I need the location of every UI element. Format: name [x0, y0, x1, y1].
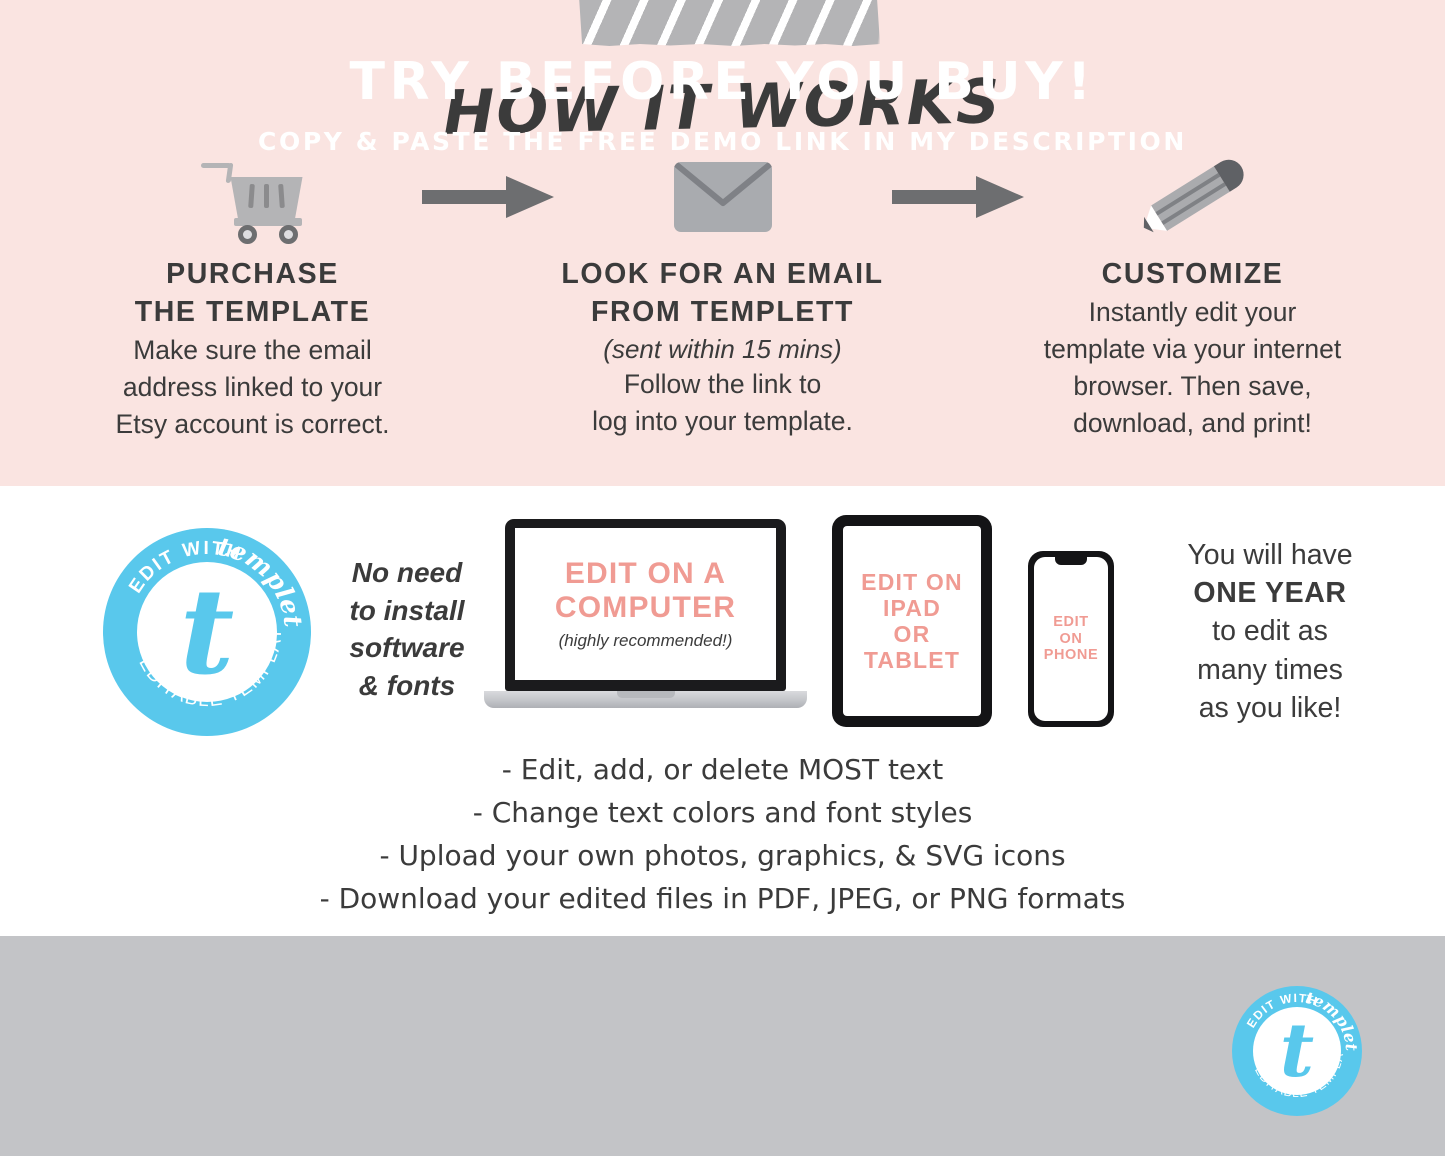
step-purchase-heading: PURCHASE THE TEMPLATE	[88, 256, 418, 332]
device-tablet: EDIT ON IPAD OR TABLET	[832, 515, 992, 727]
tablet-screen: EDIT ON IPAD OR TABLET	[843, 526, 981, 716]
list-item: - Edit, add, or delete MOST text	[0, 748, 1445, 791]
feature-bullet-list: - Edit, add, or delete MOST text - Chang…	[0, 748, 1445, 920]
templett-badge-footer-text: EDIT WITH templett EDITABLE TEMPLATE	[1232, 986, 1362, 1116]
device-laptop: EDIT ON A COMPUTER (highly recommended!)	[484, 519, 814, 734]
list-item: - Change text colors and font styles	[0, 791, 1445, 834]
laptop-screen-subtext: (highly recommended!)	[559, 631, 733, 651]
tablet-screen-heading: EDIT ON IPAD OR TABLET	[861, 569, 963, 673]
list-item: - Upload your own photos, graphics, & SV…	[0, 834, 1445, 877]
step-email-body: Follow the link to log into your templat…	[558, 366, 888, 440]
envelope-icon	[674, 162, 772, 232]
one-year-line-4: many times	[1120, 651, 1420, 689]
one-year-line-1: You will have	[1120, 536, 1420, 574]
step-customize-body: Instantly edit your template via your in…	[1028, 294, 1358, 442]
arrow-right-icon	[422, 173, 554, 221]
step-email: LOOK FOR AN EMAIL FROM TEMPLETT (sent wi…	[558, 138, 888, 441]
laptop-screen: EDIT ON A COMPUTER (highly recommended!)	[515, 528, 776, 680]
step-purchase: PURCHASE THE TEMPLATE Make sure the emai…	[88, 138, 418, 443]
templett-badge-footer: t EDIT WITH templett EDITABLE TEMPLATE	[1232, 986, 1362, 1116]
laptop-screen-heading: EDIT ON A COMPUTER	[555, 557, 736, 625]
laptop-trackpad-notch	[617, 691, 675, 698]
step-customize: CUSTOMIZE Instantly edit your template v…	[1028, 138, 1358, 442]
one-year-emphasis: ONE YEAR	[1193, 577, 1346, 609]
step-email-heading: LOOK FOR AN EMAIL FROM TEMPLETT	[558, 256, 888, 332]
footer-title: TRY BEFORE YOU BUY!	[0, 52, 1445, 112]
phone-screen: EDIT ON PHONE	[1034, 557, 1108, 721]
templett-badge: t EDIT WITH templett EDITABLE TEMPLATE	[103, 528, 311, 736]
one-year-line-5: as you like!	[1120, 689, 1420, 727]
one-year-note: You will have ONE YEAR to edit as many t…	[1120, 536, 1420, 727]
device-phone: EDIT ON PHONE	[1028, 551, 1114, 727]
phone-screen-heading: EDIT ON PHONE	[1044, 614, 1099, 663]
footer-subtitle: COPY & PASTE THE FREE DEMO LINK IN MY DE…	[0, 127, 1445, 156]
washi-tape-decoration	[576, 0, 880, 46]
no-need-note: No need to install software & fonts	[332, 554, 482, 704]
step-customize-heading: CUSTOMIZE	[1028, 256, 1358, 294]
pencil-icon	[1133, 146, 1253, 248]
arrow-right-icon	[892, 173, 1024, 221]
steps-row: PURCHASE THE TEMPLATE Make sure the emai…	[0, 138, 1445, 468]
list-item: - Download your edited files in PDF, JPE…	[0, 877, 1445, 920]
one-year-line-3: to edit as	[1120, 612, 1420, 650]
footer-section	[0, 936, 1445, 1156]
step-purchase-body: Make sure the email address linked to yo…	[88, 332, 418, 443]
laptop-lid: EDIT ON A COMPUTER (highly recommended!)	[505, 519, 786, 691]
shopping-cart-icon	[201, 155, 305, 239]
templett-badge-text: EDIT WITH templett EDITABLE TEMPLATE	[103, 528, 311, 736]
step-email-italic-note: (sent within 15 mins)	[558, 332, 888, 367]
how-it-works-infographic: HOW IT WORKS PURCHASE THE TEMPLATE Make …	[0, 0, 1445, 1156]
